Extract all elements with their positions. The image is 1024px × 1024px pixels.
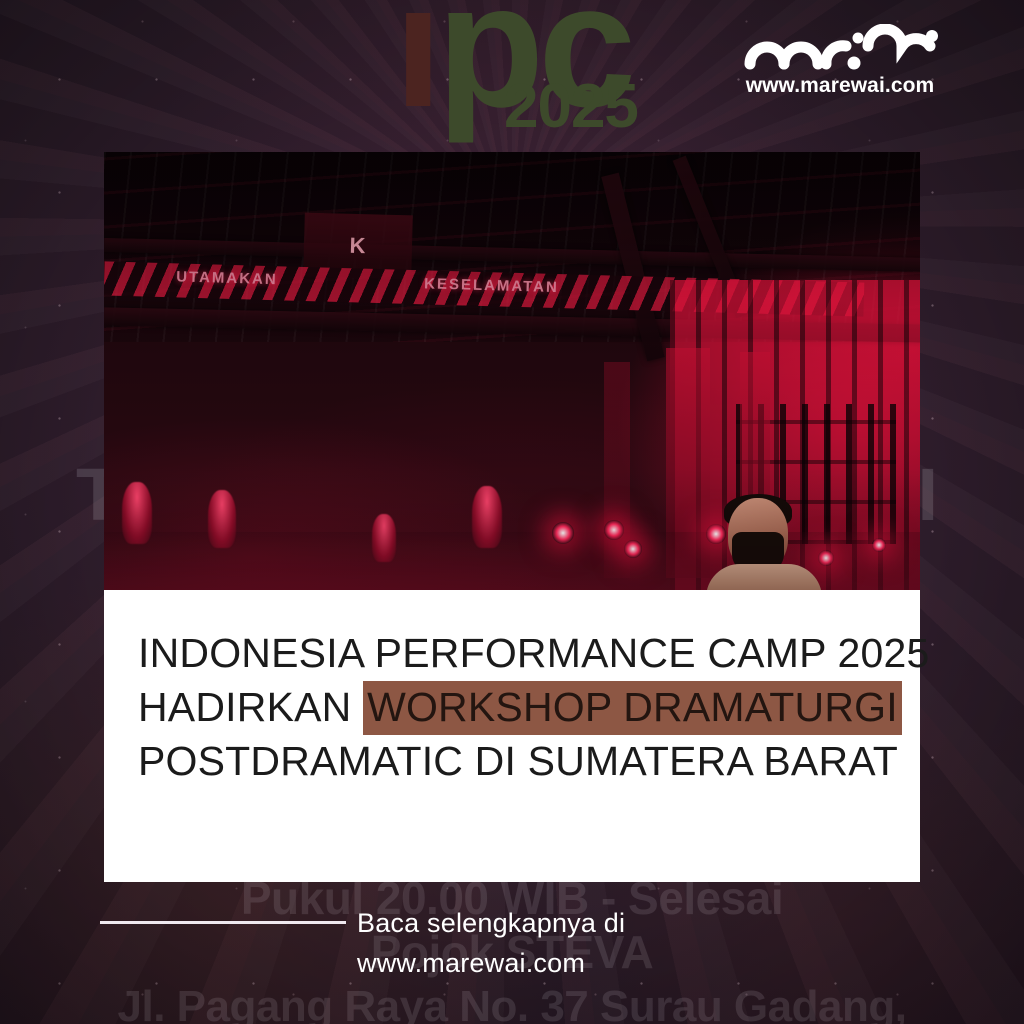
page-title: INDONESIA PERFORMANCE CAMP 2025 HADIRKAN… [138, 626, 902, 788]
headline-highlight: WORKSHOP DRAMATURGI [363, 681, 902, 735]
event-photo: K UTAMAKAN KESELAMATAN [104, 152, 920, 592]
headline-line-1: INDONESIA PERFORMANCE CAMP 2025 [138, 626, 902, 680]
footer-cta[interactable]: Baca selengkapnya di www.marewai.com [357, 904, 625, 984]
footer-cta-line-2: www.marewai.com [357, 944, 625, 984]
headline-line-2-prefix: HADIRKAN [138, 684, 363, 730]
headline-line-2: HADIRKAN WORKSHOP DRAMATURGI [138, 680, 902, 734]
headline-line-3: POSTDRAMATIC DI SUMATERA BARAT [138, 734, 902, 788]
footer-divider [100, 921, 346, 924]
photo-tint-overlay [104, 152, 920, 592]
footer-cta-line-1: Baca selengkapnya di [357, 904, 625, 944]
poster-canvas: Pukul 20.00 WIB - Selesai Pojok STEVA Jl… [0, 0, 1024, 1024]
headline-card: INDONESIA PERFORMANCE CAMP 2025 HADIRKAN… [104, 590, 920, 882]
